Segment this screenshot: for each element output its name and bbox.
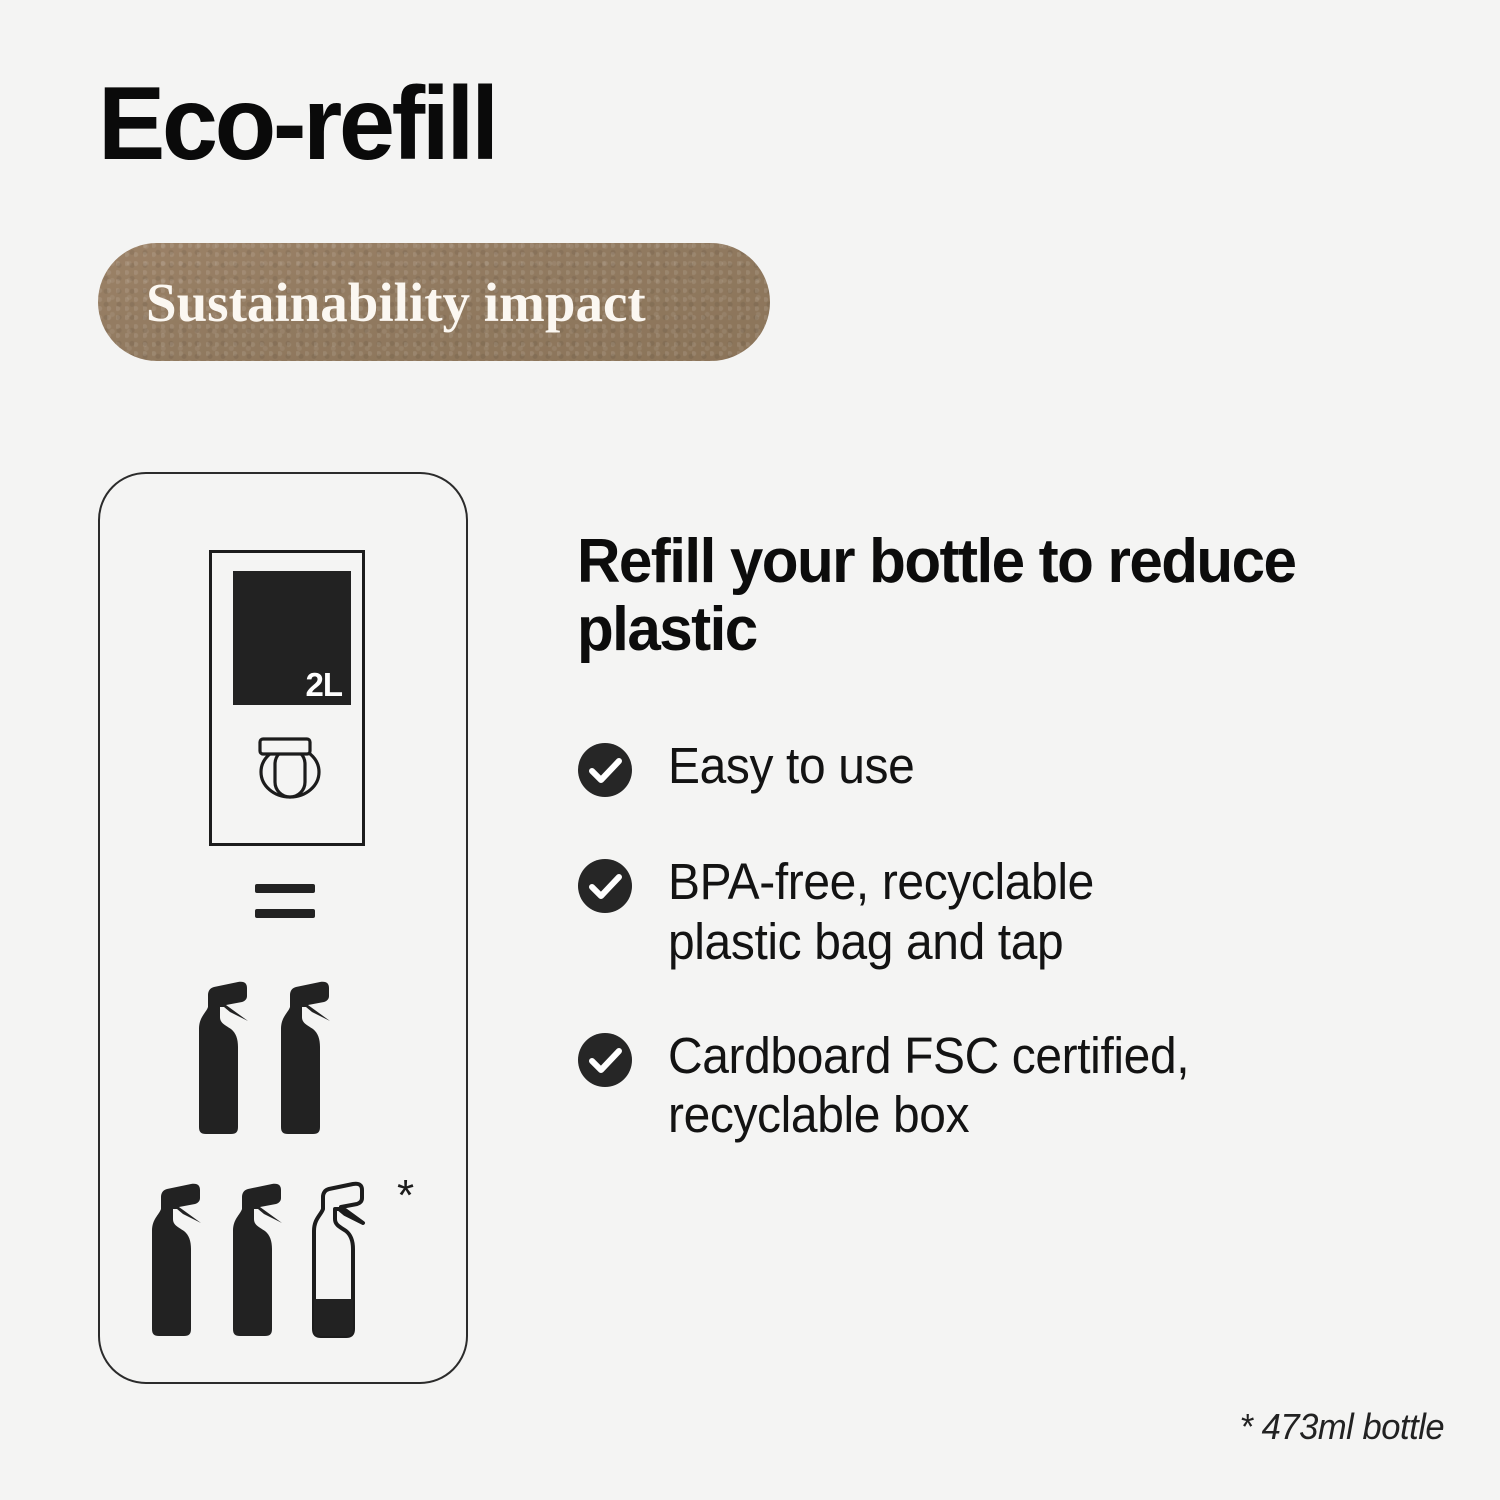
refill-box-graphic: 2L <box>209 550 365 846</box>
check-circle-icon <box>577 858 633 914</box>
feature-item-bpa-free: BPA-free, recyclable plastic bag and tap <box>577 852 1437 971</box>
footnote-text: * 473ml bottle <box>1239 1406 1444 1448</box>
sustainability-impact-label: Sustainability impact <box>146 275 646 330</box>
feature-list: Easy to use BPA-free, recyclable plastic… <box>577 736 1437 1145</box>
content-column: Refill your bottle to reduce plastic Eas… <box>577 528 1437 1145</box>
spray-bottle-icon-partial <box>301 1179 369 1341</box>
feature-item-label: Cardboard FSC certified, recyclable box <box>668 1026 1189 1145</box>
asterisk-marker: * <box>397 1174 414 1218</box>
spray-bottle-row-upper <box>186 977 336 1139</box>
spray-bottle-icon <box>220 1179 288 1341</box>
feature-item-label: Easy to use <box>668 736 914 796</box>
spray-bottle-icon <box>186 977 254 1139</box>
equals-bar-top <box>255 884 315 893</box>
check-circle-icon <box>577 742 633 798</box>
page-title: Eco-refill <box>98 72 496 176</box>
refill-box-volume-text: 2L <box>305 668 342 701</box>
feature-item-label: BPA-free, recyclable plastic bag and tap <box>668 852 1094 971</box>
tap-spigot-icon <box>250 725 330 805</box>
refill-box-label-panel: 2L <box>233 571 351 705</box>
equals-sign-icon <box>255 884 315 918</box>
refill-equivalence-illustration: 2L <box>98 472 468 1384</box>
check-circle-icon <box>577 1032 633 1088</box>
feature-item-easy-to-use: Easy to use <box>577 736 1437 798</box>
spray-bottle-row-lower <box>139 1179 369 1341</box>
eco-refill-infographic: Eco-refill Sustainability impact 2L <box>0 0 1500 1500</box>
content-heading: Refill your bottle to reduce plastic <box>577 528 1411 664</box>
spray-bottle-icon <box>139 1179 207 1341</box>
feature-item-cardboard-fsc: Cardboard FSC certified, recyclable box <box>577 1026 1437 1145</box>
sustainability-impact-badge: Sustainability impact <box>98 243 770 361</box>
spray-bottle-icon <box>268 977 336 1139</box>
equals-bar-bottom <box>255 909 315 918</box>
